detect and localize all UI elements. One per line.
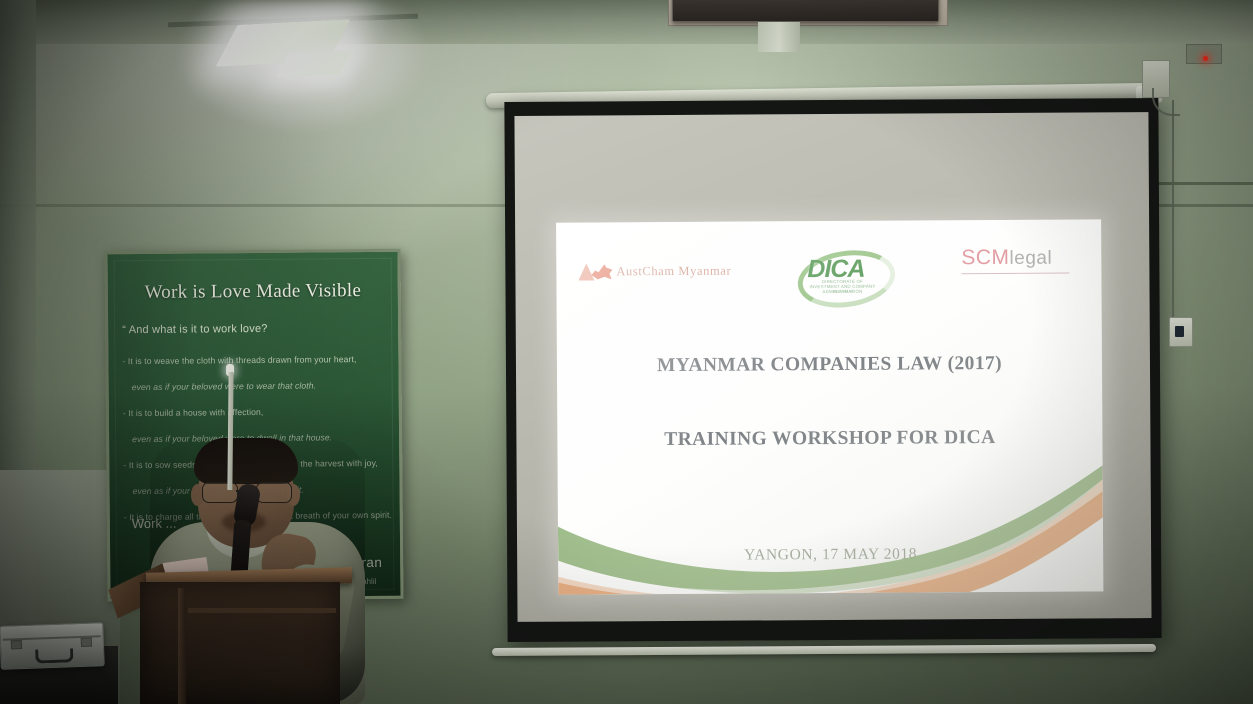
equipment-case bbox=[0, 622, 105, 670]
austcham-myanmar-logo: AustCham Myanmar bbox=[578, 262, 731, 281]
podium-body bbox=[140, 582, 340, 704]
wall-cable bbox=[1172, 100, 1174, 318]
dica-logo: DICA DIRECTORATE OF INVESTMENT AND COMPA… bbox=[793, 245, 889, 304]
case-latch-left bbox=[11, 640, 22, 649]
swoosh-svg bbox=[558, 461, 1104, 594]
podium-corner-edge bbox=[178, 588, 186, 704]
podium-rail bbox=[188, 608, 336, 613]
slide-heading-primary: MYANMAR COMPANIES LAW (2017) bbox=[557, 352, 1102, 377]
projector-icon bbox=[672, 0, 939, 22]
status-led-icon bbox=[1203, 56, 1208, 61]
case-handle-icon bbox=[35, 648, 73, 663]
slide-logo-row: AustCham Myanmar DICA DIRECTORATE OF INV… bbox=[556, 237, 1101, 302]
slide-swoosh-decoration bbox=[558, 461, 1104, 594]
projector-ceiling-stem bbox=[758, 22, 800, 52]
scm-underline bbox=[961, 273, 1069, 275]
scm-part-secondary: legal bbox=[1009, 248, 1052, 269]
case-latch-right bbox=[81, 638, 92, 647]
photo-scene: AustCham Myanmar DICA DIRECTORATE OF INV… bbox=[0, 0, 1253, 704]
projected-slide: AustCham Myanmar DICA DIRECTORATE OF INV… bbox=[556, 219, 1103, 594]
wall-sensor-box bbox=[1186, 44, 1222, 64]
scm-legal-logo: SCMlegal bbox=[961, 246, 1069, 275]
austcham-kangaroo-icon bbox=[578, 262, 612, 280]
scm-part-primary: SCM bbox=[961, 246, 1009, 269]
projection-screen: AustCham Myanmar DICA DIRECTORATE OF INV… bbox=[504, 98, 1161, 642]
scm-legal-wordmark: SCMlegal bbox=[961, 246, 1069, 271]
austcham-logo-text: AustCham Myanmar bbox=[616, 263, 731, 279]
wall-switch-button[interactable] bbox=[1175, 326, 1184, 337]
slide-heading-secondary: TRAINING WORKSHOP FOR DICA bbox=[557, 426, 1102, 451]
dica-subtitle-2: MYANMAR bbox=[818, 289, 870, 294]
screen-surface: AustCham Myanmar DICA DIRECTORATE OF INV… bbox=[514, 112, 1151, 622]
